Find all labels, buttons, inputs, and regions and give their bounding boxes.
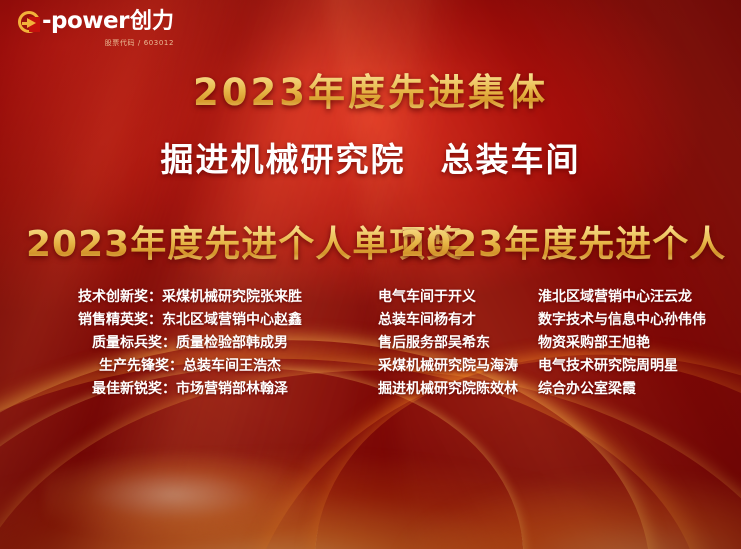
list-item: 销售精英奖：东北区域营销中心赵鑫 — [60, 309, 320, 332]
company-logo: -power 创力 股票代码 / 603012 — [18, 10, 174, 48]
logo-wordmark: -power — [42, 10, 129, 33]
c-power-circle-arrow-icon — [18, 11, 40, 33]
page-subtitle: 掘进机械研究院 总装车间 — [0, 133, 741, 181]
list-item: 采煤机械研究院马海涛 — [378, 355, 538, 378]
list-item: 质量标兵奖：质量检验部韩成男 — [60, 332, 320, 355]
award-poster: -power 创力 股票代码 / 603012 2023年度先进集体 掘进机械研… — [0, 0, 741, 549]
advanced-individual-list: 电气车间于开义 淮北区域营销中心汪云龙 总装车间杨有才 数字技术与信息中心孙伟伟… — [378, 286, 708, 401]
list-row: 掘进机械研究院陈效林 综合办公室梁霞 — [378, 378, 708, 401]
section-heading-advanced-individuals: 2023年度先进个人 — [400, 215, 726, 267]
list-item: 售后服务部吴希东 — [378, 332, 538, 355]
list-item: 淮北区域营销中心汪云龙 — [538, 286, 708, 309]
list-item: 生产先锋奖：总装车间王浩杰 — [60, 355, 320, 378]
list-item: 电气车间于开义 — [378, 286, 538, 309]
list-item: 技术创新奖：采煤机械研究院张来胜 — [60, 286, 320, 309]
list-row: 售后服务部吴希东 物资采购部王旭艳 — [378, 332, 708, 355]
list-item: 掘进机械研究院陈效林 — [378, 378, 538, 401]
list-row: 总装车间杨有才 数字技术与信息中心孙伟伟 — [378, 309, 708, 332]
list-item: 综合办公室梁霞 — [538, 378, 708, 401]
list-item: 数字技术与信息中心孙伟伟 — [538, 309, 708, 332]
page-title: 2023年度先进集体 — [0, 62, 741, 116]
stock-code-label: 股票代码 / 603012 — [18, 38, 174, 48]
list-item: 总装车间杨有才 — [378, 309, 538, 332]
list-item: 最佳新锐奖：市场营销部林翰泽 — [60, 378, 320, 401]
section-heading-individual-special-awards: 2023年度先进个人单项奖 — [26, 215, 463, 267]
logo-wordmark-cn: 创力 — [130, 11, 174, 33]
list-row: 电气车间于开义 淮北区域营销中心汪云龙 — [378, 286, 708, 309]
special-award-list: 技术创新奖：采煤机械研究院张来胜 销售精英奖：东北区域营销中心赵鑫 质量标兵奖：… — [60, 286, 320, 401]
list-item: 物资采购部王旭艳 — [538, 332, 708, 355]
list-row: 采煤机械研究院马海涛 电气技术研究院周明星 — [378, 355, 708, 378]
list-item: 电气技术研究院周明星 — [538, 355, 708, 378]
logo-row: -power 创力 — [18, 10, 174, 33]
